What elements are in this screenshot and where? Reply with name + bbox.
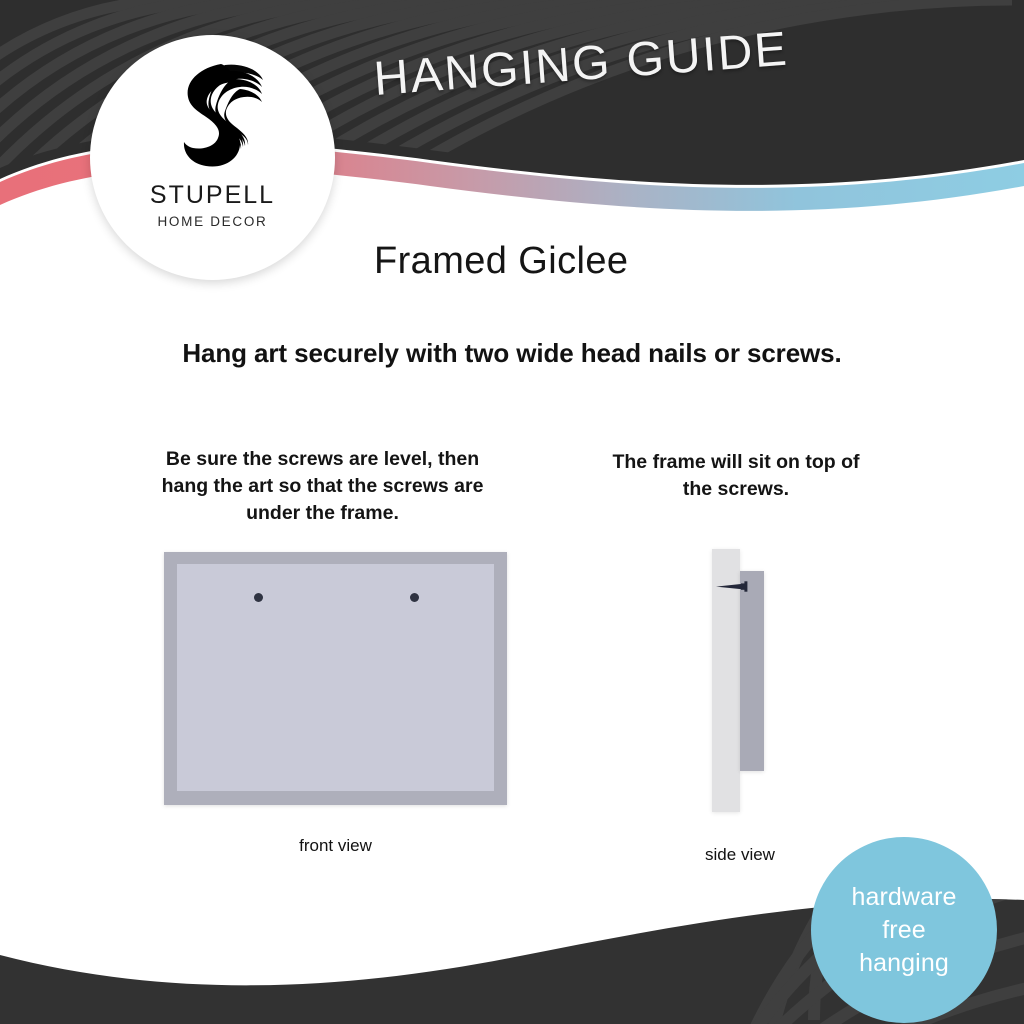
side-view-caption: The frame will sit on top of the screws. [600,449,872,503]
hanging-guide-page: STUPELL HOME DECOR HANGING GUIDE Framed … [0,0,1024,1024]
side-view-label: side view [660,845,820,865]
hardware-free-hanging-badge: hardware free hanging [811,837,997,1023]
screw-dot-left-icon [254,593,263,602]
badge-line-3: hanging [859,947,949,980]
front-view-caption: Be sure the screws are level, then hang … [150,446,495,527]
front-view-label: front view [164,836,507,856]
side-view-frame-edge [740,571,764,771]
logo-wordmark: STUPELL [150,183,275,208]
front-view-matte [177,564,494,791]
product-type-heading: Framed Giclee [374,240,628,283]
screw-dot-right-icon [410,593,419,602]
badge-line-2: free [882,914,925,947]
brand-logo-badge: STUPELL HOME DECOR [90,35,335,280]
nail-icon [716,581,750,592]
front-view-frame-diagram [164,552,507,805]
stupell-swoosh-logo-icon [159,61,267,177]
main-instruction-text: Hang art securely with two wide head nai… [0,338,1024,369]
logo-subwordmark: HOME DECOR [157,215,267,229]
badge-line-1: hardware [851,881,956,914]
page-title: HANGING GUIDE [372,22,790,107]
